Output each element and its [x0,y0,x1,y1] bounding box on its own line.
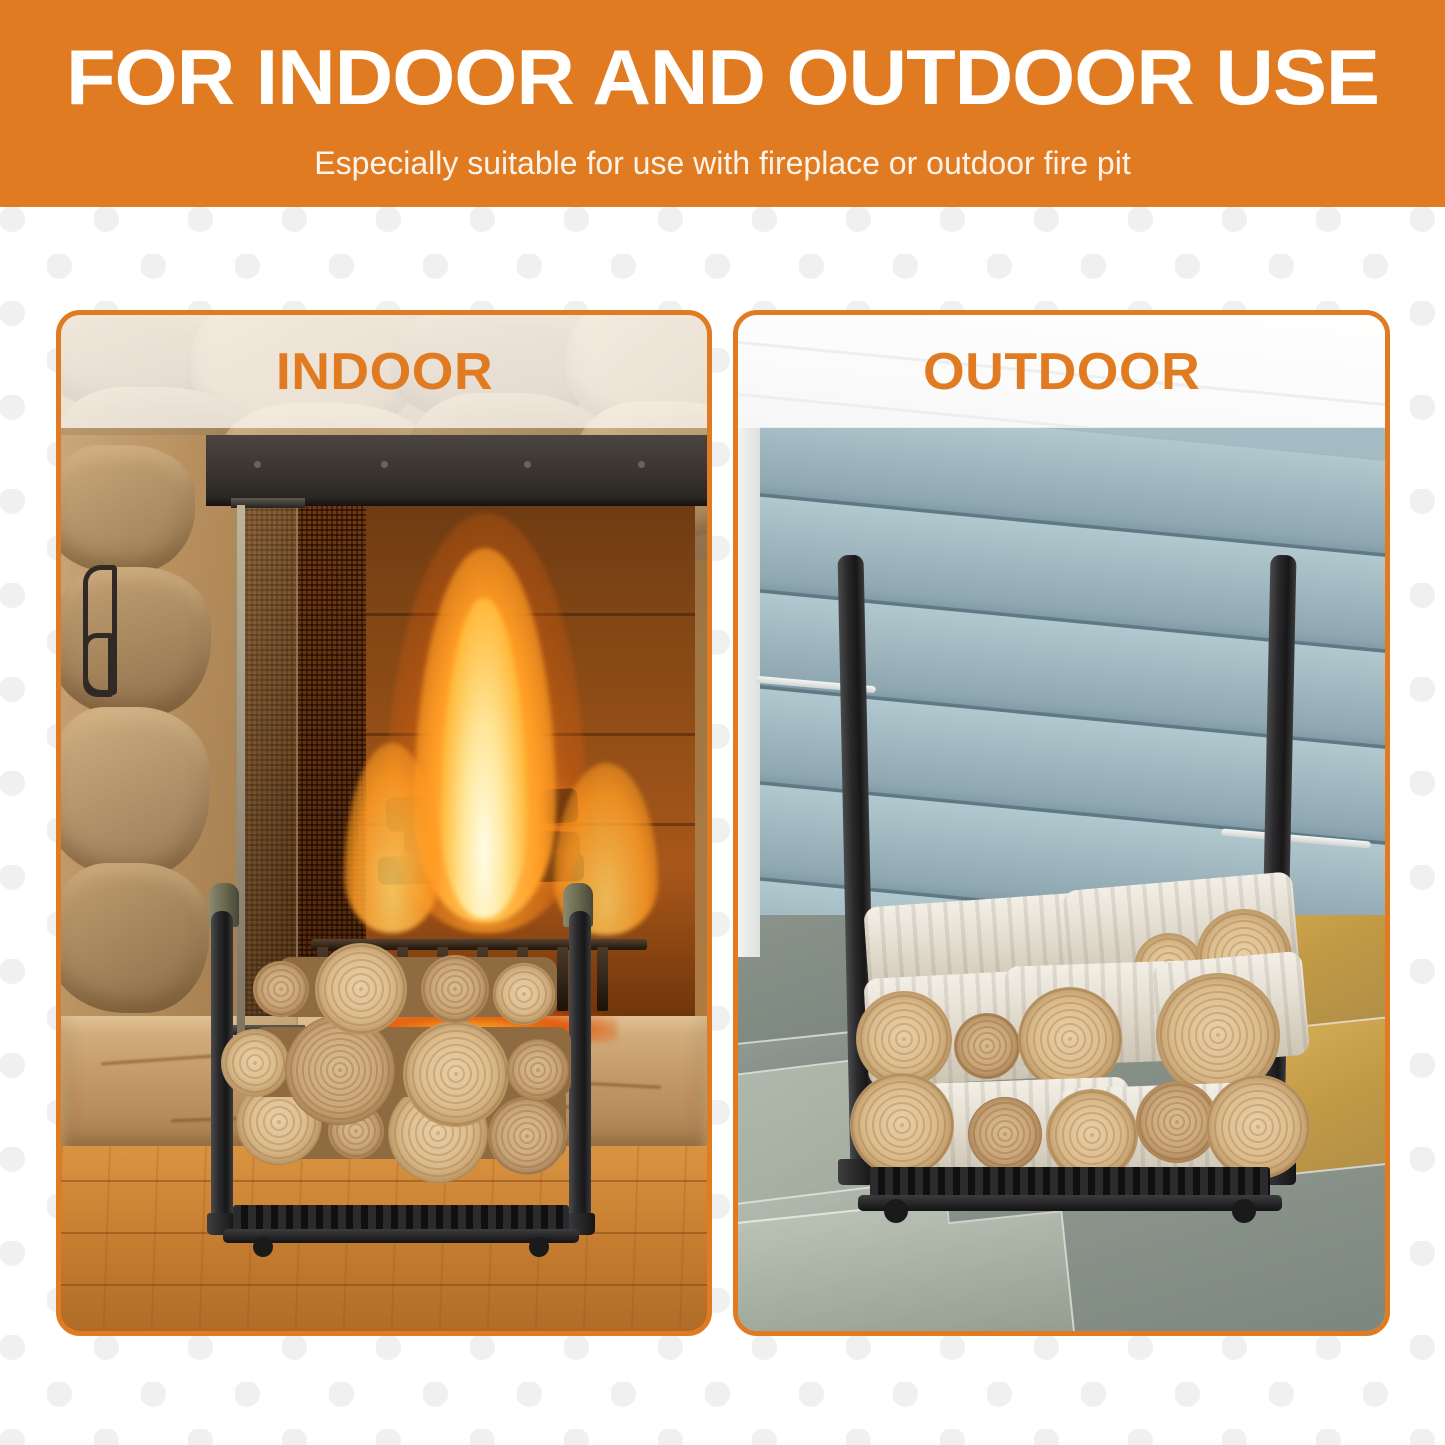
rack-deck-outdoor [870,1167,1270,1197]
fireplace-lintel [206,435,707,497]
panel-label-band-indoor: INDOOR [61,315,707,428]
page-title: FOR INDOOR AND OUTDOOR USE [0,38,1445,116]
page-subtitle: Especially suitable for use with firepla… [0,147,1445,179]
indoor-scene-image: INDOOR [61,315,707,1331]
rack-wheel-left-outdoor [884,1199,908,1223]
fireplace-tool-hook-icon-2 [83,633,113,697]
header-banner: FOR INDOOR AND OUTDOOR USE Especially su… [0,0,1445,207]
rack-front-rail-indoor [223,1229,579,1243]
log-stack-indoor-top [253,943,573,1025]
panel-outdoor: OUTDOOR [733,310,1390,1336]
product-feature-image: FOR INDOOR AND OUTDOOR USE Especially su… [0,0,1445,1445]
rack-deck-indoor [233,1205,569,1231]
rack-front-rail-outdoor [858,1195,1282,1211]
panel-label-outdoor: OUTDOOR [923,346,1200,398]
panel-label-band-outdoor: OUTDOOR [738,315,1385,428]
outdoor-scene-image: OUTDOOR [738,315,1385,1331]
rack-wheel-left-indoor [253,1237,273,1257]
rack-wheel-right-outdoor [1232,1199,1256,1223]
rack-wheel-right-indoor [529,1237,549,1257]
siding-trim [738,427,760,957]
log-stack-indoor-mid [221,1015,581,1107]
panel-label-indoor: INDOOR [275,346,492,398]
panel-indoor: INDOOR [56,310,712,1336]
